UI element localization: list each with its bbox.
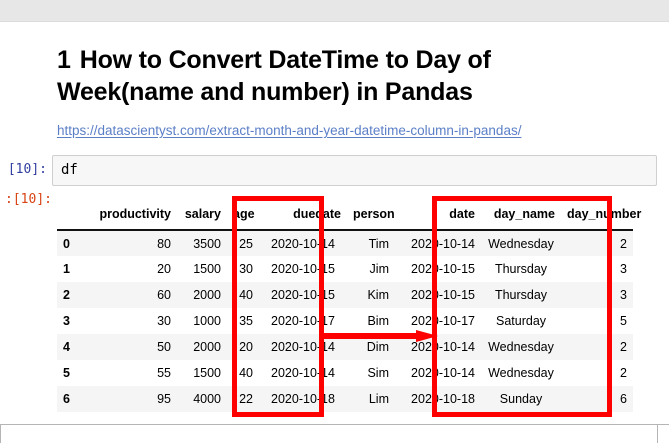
toolbar-band <box>0 0 669 22</box>
column-header-age: age <box>227 202 259 230</box>
table-body: 0 80 3500 25 2020-10-14 Tim 2020-10-14 W… <box>57 230 633 412</box>
cell-right-edge <box>657 424 658 443</box>
cell-person: Tim <box>347 230 395 256</box>
markdown-cell[interactable]: 1How to Convert DateTime to Day of Week(… <box>0 22 669 140</box>
cell-age: 25 <box>227 230 259 256</box>
reference-link[interactable]: https://datascientyst.com/extract-month-… <box>57 123 521 138</box>
cell-salary: 1000 <box>177 308 227 334</box>
cell-salary: 4000 <box>177 386 227 412</box>
cell-day-name: Sunday <box>481 386 561 412</box>
cell-person: Lim <box>347 386 395 412</box>
cell-productivity: 20 <box>91 256 177 282</box>
cell-person: Bim <box>347 308 395 334</box>
cell-day-name: Wednesday <box>481 230 561 256</box>
cell-duedate: 2020-10-18 <box>259 386 347 412</box>
cell-date: 2020-10-14 <box>395 334 481 360</box>
row-index: 6 <box>57 386 91 412</box>
cell-day-number: 2 <box>561 230 633 256</box>
input-cell: [10]: df <box>0 155 669 188</box>
column-header-salary: salary <box>177 202 227 230</box>
cell-productivity: 95 <box>91 386 177 412</box>
section-number: 1 <box>57 46 71 74</box>
cell-date: 2020-10-18 <box>395 386 481 412</box>
cell-date: 2020-10-14 <box>395 360 481 386</box>
cell-divider <box>0 424 669 425</box>
cell-salary: 1500 <box>177 256 227 282</box>
cell-productivity: 30 <box>91 308 177 334</box>
column-header-duedate: duedate <box>259 202 347 230</box>
row-index: 5 <box>57 360 91 386</box>
input-prompt-label: [10]: <box>0 155 52 180</box>
column-header-index <box>57 202 91 230</box>
cell-day-number: 3 <box>561 256 633 282</box>
cell-salary: 2000 <box>177 282 227 308</box>
cell-age: 22 <box>227 386 259 412</box>
cell-duedate: 2020-10-14 <box>259 334 347 360</box>
cell-age: 40 <box>227 282 259 308</box>
row-index: 1 <box>57 256 91 282</box>
cell-productivity: 50 <box>91 334 177 360</box>
cell-duedate: 2020-10-15 <box>259 256 347 282</box>
code-text: df <box>61 160 656 180</box>
cell-day-number: 3 <box>561 282 633 308</box>
row-index: 4 <box>57 334 91 360</box>
cell-age: 35 <box>227 308 259 334</box>
cell-day-name: Thursday <box>481 256 561 282</box>
cell-salary: 2000 <box>177 334 227 360</box>
notebook-page: 1How to Convert DateTime to Day of Week(… <box>0 0 669 443</box>
cell-duedate: 2020-10-17 <box>259 308 347 334</box>
cell-age: 30 <box>227 256 259 282</box>
cell-day-number: 6 <box>561 386 633 412</box>
cell-duedate: 2020-10-14 <box>259 360 347 386</box>
title-text: How to Convert DateTime to Day of Week(n… <box>57 46 491 106</box>
dataframe-output: productivity salary age duedate person d… <box>57 202 614 412</box>
cell-person: Sim <box>347 360 395 386</box>
reference-link-wrapper: https://datascientyst.com/extract-month-… <box>0 108 669 140</box>
cell-person: Dim <box>347 334 395 360</box>
table-row: 2 60 2000 40 2020-10-15 Kim 2020-10-15 T… <box>57 282 633 308</box>
cell-day-name: Thursday <box>481 282 561 308</box>
row-index: 0 <box>57 230 91 256</box>
page-title: 1How to Convert DateTime to Day of Week(… <box>0 22 669 108</box>
dataframe-table: productivity salary age duedate person d… <box>57 202 633 412</box>
cell-person: Jim <box>347 256 395 282</box>
cell-day-name: Wednesday <box>481 360 561 386</box>
cell-date: 2020-10-15 <box>395 282 481 308</box>
cell-age: 40 <box>227 360 259 386</box>
cell-duedate: 2020-10-14 <box>259 230 347 256</box>
cell-productivity: 55 <box>91 360 177 386</box>
column-header-productivity: productivity <box>91 202 177 230</box>
row-index: 3 <box>57 308 91 334</box>
table-row: 1 20 1500 30 2020-10-15 Jim 2020-10-15 T… <box>57 256 633 282</box>
cell-person: Kim <box>347 282 395 308</box>
table-header: productivity salary age duedate person d… <box>57 202 633 230</box>
column-header-day-name: day_name <box>481 202 561 230</box>
table-row: 5 55 1500 40 2020-10-14 Sim 2020-10-14 W… <box>57 360 633 386</box>
table-row: 0 80 3500 25 2020-10-14 Tim 2020-10-14 W… <box>57 230 633 256</box>
cell-duedate: 2020-10-15 <box>259 282 347 308</box>
cell-salary: 3500 <box>177 230 227 256</box>
column-header-day-number: day_number <box>561 202 633 230</box>
table-row: 3 30 1000 35 2020-10-17 Bim 2020-10-17 S… <box>57 308 633 334</box>
code-editor[interactable]: df <box>52 155 657 186</box>
cell-day-number: 5 <box>561 308 633 334</box>
cell-productivity: 80 <box>91 230 177 256</box>
table-row: 6 95 4000 22 2020-10-18 Lim 2020-10-18 S… <box>57 386 633 412</box>
row-index: 2 <box>57 282 91 308</box>
cell-day-number: 2 <box>561 360 633 386</box>
cell-age: 20 <box>227 334 259 360</box>
cell-day-name: Wednesday <box>481 334 561 360</box>
table-header-row: productivity salary age duedate person d… <box>57 202 633 230</box>
cell-date: 2020-10-15 <box>395 256 481 282</box>
cell-day-name: Saturday <box>481 308 561 334</box>
cell-left-edge <box>0 424 1 443</box>
cell-date: 2020-10-17 <box>395 308 481 334</box>
table-row: 4 50 2000 20 2020-10-14 Dim 2020-10-14 W… <box>57 334 633 360</box>
output-prompt-label: :[10]: <box>0 190 52 210</box>
column-header-person: person <box>347 202 395 230</box>
cell-day-number: 2 <box>561 334 633 360</box>
cell-salary: 1500 <box>177 360 227 386</box>
cell-date: 2020-10-14 <box>395 230 481 256</box>
cell-productivity: 60 <box>91 282 177 308</box>
column-header-date: date <box>395 202 481 230</box>
